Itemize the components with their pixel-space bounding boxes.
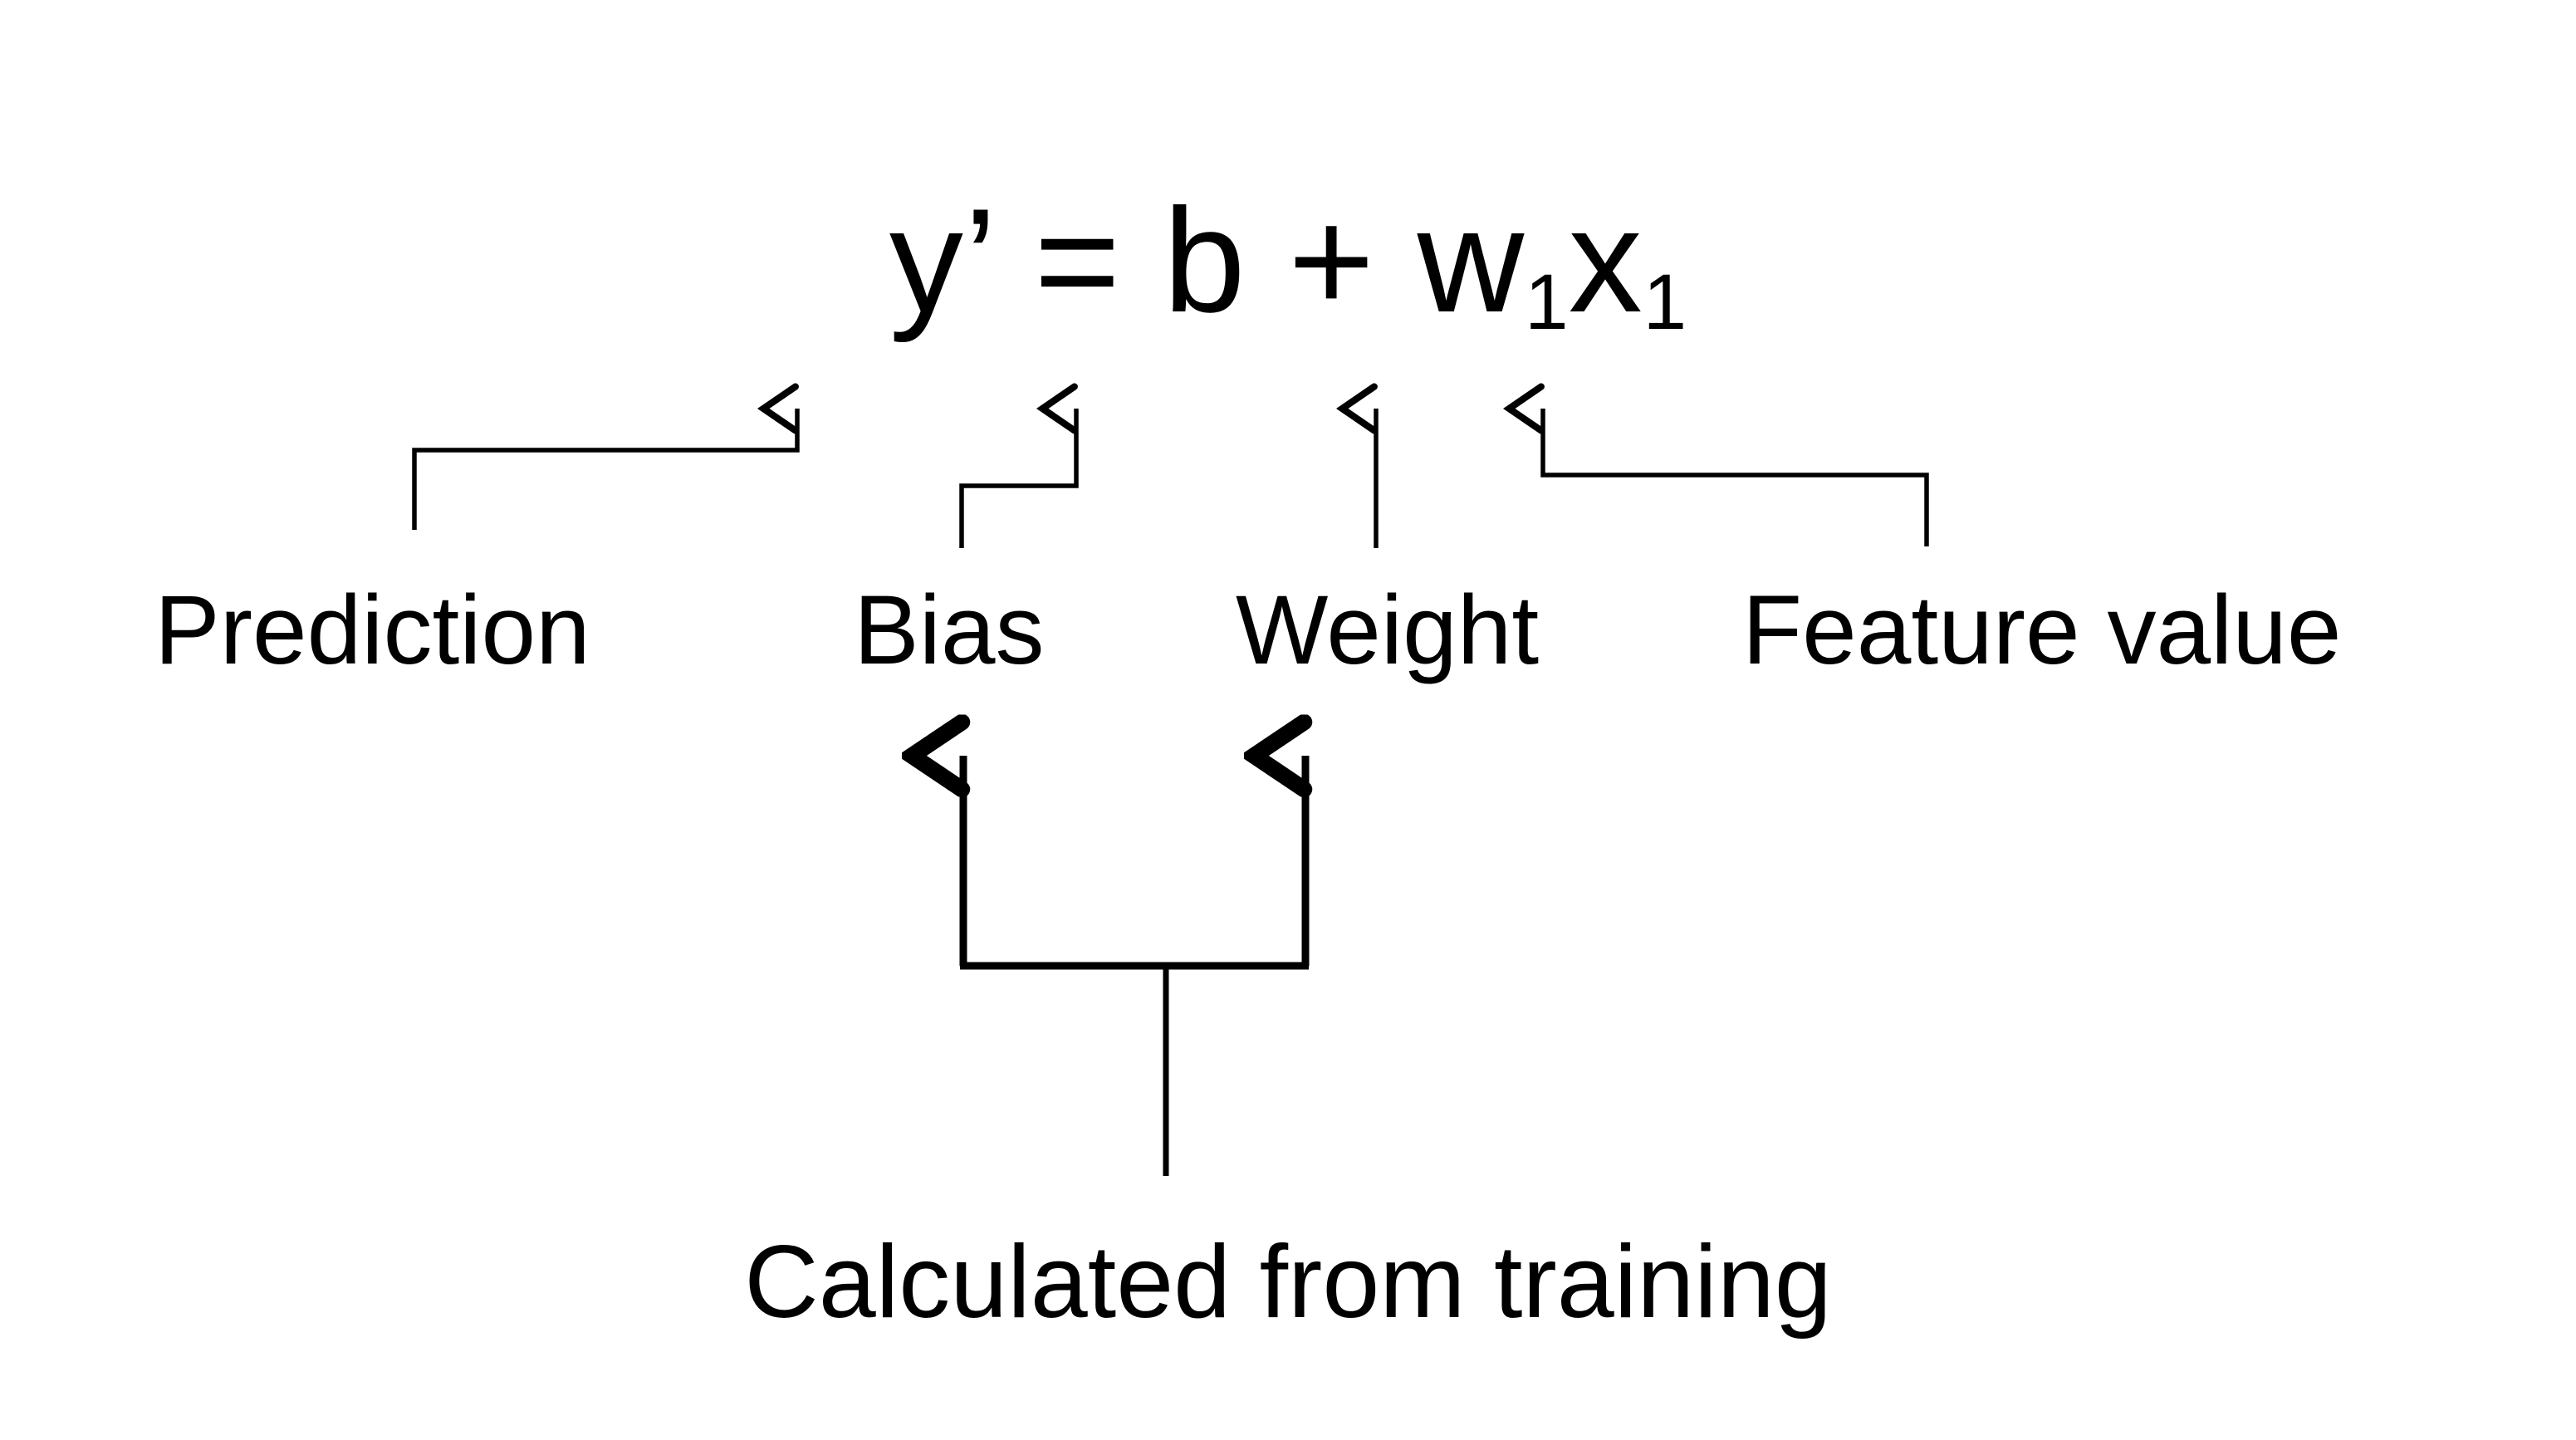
annotation-label-feature-value: Feature value bbox=[1742, 581, 2342, 679]
connector-layer bbox=[0, 0, 2576, 1440]
annotation-label-bias: Bias bbox=[854, 581, 1045, 679]
connector-bias-arrow bbox=[962, 409, 1076, 548]
annotation-label-calculated-from-training: Calculated from training bbox=[0, 1231, 2576, 1334]
connector-feature-value-arrow bbox=[1543, 409, 1927, 546]
diagram-canvas: y’ = b + w1x1 Prediction Bias W bbox=[0, 0, 2576, 1440]
connector-prediction-arrow bbox=[414, 409, 797, 530]
annotation-label-prediction: Prediction bbox=[154, 581, 590, 679]
annotation-label-weight: Weight bbox=[1236, 581, 1539, 679]
